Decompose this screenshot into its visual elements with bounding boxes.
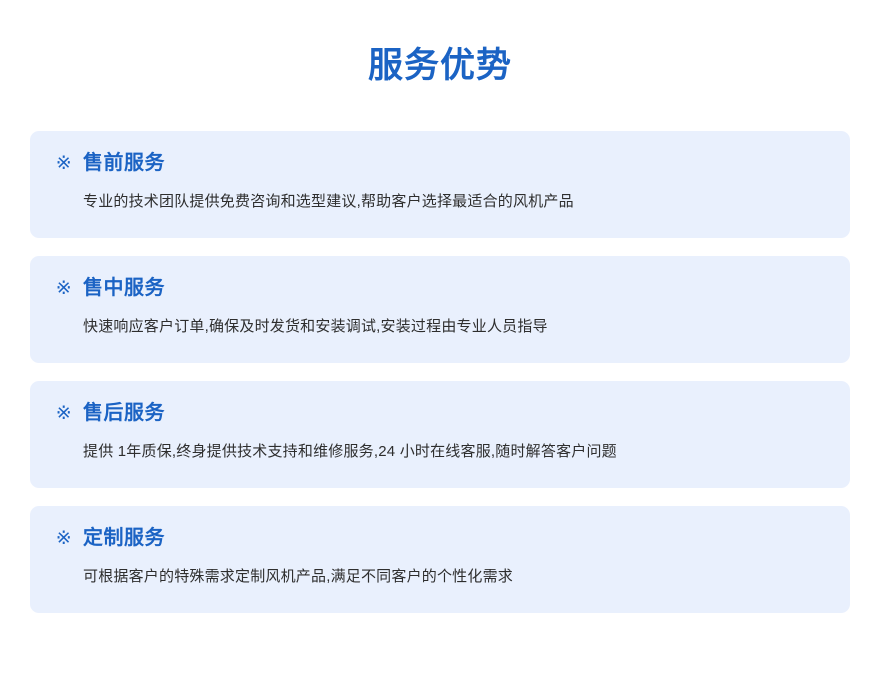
card-description: 专业的技术团队提供免费咨询和选型建议,帮助客户选择最适合的风机产品 <box>83 191 826 214</box>
reference-mark-icon: ※ <box>54 529 74 548</box>
service-card-pre-sales: ※ 售前服务 专业的技术团队提供免费咨询和选型建议,帮助客户选择最适合的风机产品 <box>30 131 850 238</box>
reference-mark-icon: ※ <box>54 279 74 298</box>
card-header: ※ 售中服务 <box>54 276 826 300</box>
card-header: ※ 售后服务 <box>54 401 826 425</box>
reference-mark-icon: ※ <box>54 154 74 173</box>
card-heading-text: 定制服务 <box>83 526 165 550</box>
service-card-during-sales: ※ 售中服务 快速响应客户订单,确保及时发货和安装调试,安装过程由专业人员指导 <box>30 256 850 363</box>
service-card-list: ※ 售前服务 专业的技术团队提供免费咨询和选型建议,帮助客户选择最适合的风机产品… <box>0 131 880 613</box>
card-heading-text: 售前服务 <box>83 151 165 175</box>
card-header: ※ 售前服务 <box>54 151 826 175</box>
reference-mark-icon: ※ <box>54 404 74 423</box>
service-card-after-sales: ※ 售后服务 提供 1年质保,终身提供技术支持和维修服务,24 小时在线客服,随… <box>30 381 850 488</box>
page-title: 服务优势 <box>0 0 880 83</box>
card-heading-text: 售中服务 <box>83 276 165 300</box>
service-card-customization: ※ 定制服务 可根据客户的特殊需求定制风机产品,满足不同客户的个性化需求 <box>30 506 850 613</box>
service-advantages-page: 服务优势 ※ 售前服务 专业的技术团队提供免费咨询和选型建议,帮助客户选择最适合… <box>0 0 880 677</box>
card-description: 快速响应客户订单,确保及时发货和安装调试,安装过程由专业人员指导 <box>83 316 826 339</box>
card-header: ※ 定制服务 <box>54 526 826 550</box>
card-description: 可根据客户的特殊需求定制风机产品,满足不同客户的个性化需求 <box>83 566 826 589</box>
card-heading-text: 售后服务 <box>83 401 165 425</box>
card-description: 提供 1年质保,终身提供技术支持和维修服务,24 小时在线客服,随时解答客户问题 <box>83 441 826 464</box>
